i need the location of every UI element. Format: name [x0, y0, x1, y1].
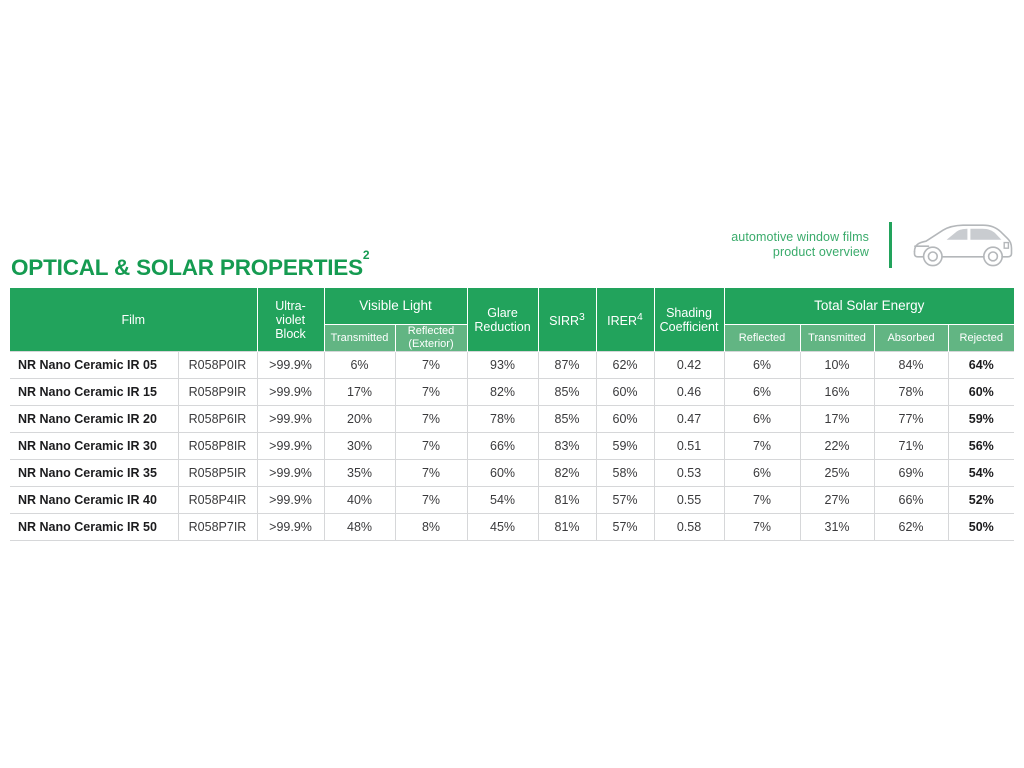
table-row: NR Nano Ceramic IR 20R058P6IR>99.9%20%7%… — [10, 406, 1014, 433]
branding-line-1: automotive window films — [731, 230, 869, 245]
cell-glare-reduction: 45% — [467, 514, 538, 541]
cell-part: R058P9IR — [178, 379, 257, 406]
cell-vl-reflected: 7% — [395, 487, 467, 514]
cell-vl-transmitted: 35% — [324, 460, 395, 487]
page-title: OPTICAL & SOLAR PROPERTIES2 — [11, 255, 369, 281]
cell-sirr: 81% — [538, 514, 596, 541]
cell-sirr: 85% — [538, 406, 596, 433]
branding-text: automotive window films product overview — [731, 230, 869, 260]
cell-vl-reflected: 7% — [395, 406, 467, 433]
cell-tse-absorbed: 78% — [874, 379, 948, 406]
cell-tse-absorbed: 77% — [874, 406, 948, 433]
uv-block-line-1: Ultra- — [275, 299, 306, 313]
cell-sirr: 87% — [538, 352, 596, 379]
branding-block: automotive window films product overview — [700, 214, 1016, 276]
cell-sirr: 83% — [538, 433, 596, 460]
cell-shading-coefficient: 0.58 — [654, 514, 724, 541]
col-header-tse-reflected: Reflected — [724, 325, 800, 352]
cell-irer: 59% — [596, 433, 654, 460]
cell-vl-reflected: 7% — [395, 352, 467, 379]
cell-part: R058P6IR — [178, 406, 257, 433]
table-head: Film Ultra- violet Block Visible Light G… — [10, 288, 1014, 352]
uv-block-line-2: violet — [276, 313, 305, 327]
irer-superscript: 4 — [637, 312, 643, 323]
cell-tse-rejected: 64% — [948, 352, 1014, 379]
cell-irer: 60% — [596, 406, 654, 433]
glare-reduction-line-2: Reduction — [474, 320, 530, 334]
cell-tse-absorbed: 84% — [874, 352, 948, 379]
cell-film: NR Nano Ceramic IR 15 — [10, 379, 178, 406]
cell-irer: 57% — [596, 487, 654, 514]
cell-tse-reflected: 7% — [724, 433, 800, 460]
col-header-glare-reduction: Glare Reduction — [467, 288, 538, 352]
table-row: NR Nano Ceramic IR 50R058P7IR>99.9%48%8%… — [10, 514, 1014, 541]
cell-glare-reduction: 82% — [467, 379, 538, 406]
cell-tse-reflected: 6% — [724, 352, 800, 379]
header-row-group: Film Ultra- violet Block Visible Light G… — [10, 288, 1014, 325]
table-body: NR Nano Ceramic IR 05R058P0IR>99.9%6%7%9… — [10, 352, 1014, 541]
cell-film: NR Nano Ceramic IR 30 — [10, 433, 178, 460]
col-header-shading-coefficient: Shading Coefficient — [654, 288, 724, 352]
irer-label: IRER — [607, 314, 637, 328]
cell-tse-transmitted: 17% — [800, 406, 874, 433]
shading-line-1: Shading — [666, 306, 712, 320]
table-row: NR Nano Ceramic IR 40R058P4IR>99.9%40%7%… — [10, 487, 1014, 514]
cell-tse-reflected: 6% — [724, 460, 800, 487]
glare-reduction-line-1: Glare — [487, 306, 518, 320]
cell-glare-reduction: 93% — [467, 352, 538, 379]
branding-divider — [889, 222, 892, 268]
cell-tse-absorbed: 66% — [874, 487, 948, 514]
cell-tse-rejected: 59% — [948, 406, 1014, 433]
cell-vl-reflected: 7% — [395, 460, 467, 487]
table-row: NR Nano Ceramic IR 35R058P5IR>99.9%35%7%… — [10, 460, 1014, 487]
uv-block-line-3: Block — [275, 327, 306, 341]
cell-vl-transmitted: 30% — [324, 433, 395, 460]
cell-film: NR Nano Ceramic IR 35 — [10, 460, 178, 487]
cell-uv-block: >99.9% — [257, 460, 324, 487]
spec-table-wrapper: Film Ultra- violet Block Visible Light G… — [10, 288, 1014, 541]
cell-vl-transmitted: 17% — [324, 379, 395, 406]
col-header-tse-transmitted: Transmitted — [800, 325, 874, 352]
col-header-tse-rejected: Rejected — [948, 325, 1014, 352]
cell-tse-reflected: 6% — [724, 406, 800, 433]
table-row: NR Nano Ceramic IR 30R058P8IR>99.9%30%7%… — [10, 433, 1014, 460]
cell-vl-reflected: 8% — [395, 514, 467, 541]
cell-tse-reflected: 7% — [724, 487, 800, 514]
cell-uv-block: >99.9% — [257, 352, 324, 379]
vl-reflected-line-1: Reflected — [408, 325, 454, 337]
branding-line-2: product overview — [731, 245, 869, 260]
col-header-film: Film — [10, 288, 257, 352]
cell-tse-absorbed: 69% — [874, 460, 948, 487]
cell-tse-transmitted: 10% — [800, 352, 874, 379]
cell-tse-rejected: 60% — [948, 379, 1014, 406]
cell-film: NR Nano Ceramic IR 50 — [10, 514, 178, 541]
cell-part: R058P4IR — [178, 487, 257, 514]
cell-shading-coefficient: 0.53 — [654, 460, 724, 487]
col-header-uv-block: Ultra- violet Block — [257, 288, 324, 352]
cell-vl-transmitted: 6% — [324, 352, 395, 379]
cell-vl-reflected: 7% — [395, 433, 467, 460]
cell-film: NR Nano Ceramic IR 20 — [10, 406, 178, 433]
cell-shading-coefficient: 0.42 — [654, 352, 724, 379]
table-row: NR Nano Ceramic IR 05R058P0IR>99.9%6%7%9… — [10, 352, 1014, 379]
table-row: NR Nano Ceramic IR 15R058P9IR>99.9%17%7%… — [10, 379, 1014, 406]
cell-vl-transmitted: 48% — [324, 514, 395, 541]
cell-tse-transmitted: 16% — [800, 379, 874, 406]
cell-irer: 62% — [596, 352, 654, 379]
cell-vl-transmitted: 20% — [324, 406, 395, 433]
sirr-superscript: 3 — [579, 312, 585, 323]
col-header-vl-transmitted: Transmitted — [324, 325, 395, 352]
cell-uv-block: >99.9% — [257, 406, 324, 433]
page-title-superscript: 2 — [363, 248, 369, 262]
cell-shading-coefficient: 0.55 — [654, 487, 724, 514]
cell-shading-coefficient: 0.47 — [654, 406, 724, 433]
cell-part: R058P5IR — [178, 460, 257, 487]
cell-tse-transmitted: 25% — [800, 460, 874, 487]
vl-reflected-line-2: (Exterior) — [408, 338, 453, 350]
cell-glare-reduction: 60% — [467, 460, 538, 487]
cell-tse-transmitted: 27% — [800, 487, 874, 514]
cell-irer: 60% — [596, 379, 654, 406]
col-header-tse-absorbed: Absorbed — [874, 325, 948, 352]
col-header-visible-light: Visible Light — [324, 288, 467, 325]
cell-tse-reflected: 6% — [724, 379, 800, 406]
cell-uv-block: >99.9% — [257, 487, 324, 514]
cell-tse-rejected: 52% — [948, 487, 1014, 514]
cell-part: R058P0IR — [178, 352, 257, 379]
shading-line-2: Coefficient — [660, 320, 719, 334]
col-header-irer: IRER4 — [596, 288, 654, 352]
col-header-sirr: SIRR3 — [538, 288, 596, 352]
cell-uv-block: >99.9% — [257, 433, 324, 460]
cell-shading-coefficient: 0.46 — [654, 379, 724, 406]
cell-uv-block: >99.9% — [257, 514, 324, 541]
cell-tse-rejected: 50% — [948, 514, 1014, 541]
cell-vl-reflected: 7% — [395, 379, 467, 406]
cell-part: R058P8IR — [178, 433, 257, 460]
sirr-label: SIRR — [549, 314, 579, 328]
col-header-vl-reflected: Reflected (Exterior) — [395, 325, 467, 352]
cell-tse-rejected: 54% — [948, 460, 1014, 487]
cell-sirr: 81% — [538, 487, 596, 514]
cell-shading-coefficient: 0.51 — [654, 433, 724, 460]
cell-sirr: 82% — [538, 460, 596, 487]
cell-part: R058P7IR — [178, 514, 257, 541]
cell-irer: 57% — [596, 514, 654, 541]
cell-tse-transmitted: 31% — [800, 514, 874, 541]
cell-tse-transmitted: 22% — [800, 433, 874, 460]
page-root: automotive window films product overview — [0, 0, 1024, 768]
cell-glare-reduction: 78% — [467, 406, 538, 433]
car-side-hatchback-icon — [910, 218, 1016, 272]
optical-solar-properties-table: Film Ultra- violet Block Visible Light G… — [10, 288, 1014, 541]
cell-glare-reduction: 66% — [467, 433, 538, 460]
cell-film: NR Nano Ceramic IR 40 — [10, 487, 178, 514]
cell-vl-transmitted: 40% — [324, 487, 395, 514]
cell-uv-block: >99.9% — [257, 379, 324, 406]
cell-film: NR Nano Ceramic IR 05 — [10, 352, 178, 379]
cell-tse-rejected: 56% — [948, 433, 1014, 460]
cell-irer: 58% — [596, 460, 654, 487]
page-title-text: OPTICAL & SOLAR PROPERTIES — [11, 255, 363, 280]
cell-tse-absorbed: 71% — [874, 433, 948, 460]
cell-tse-reflected: 7% — [724, 514, 800, 541]
col-header-total-solar-energy: Total Solar Energy — [724, 288, 1014, 325]
cell-sirr: 85% — [538, 379, 596, 406]
cell-glare-reduction: 54% — [467, 487, 538, 514]
cell-tse-absorbed: 62% — [874, 514, 948, 541]
